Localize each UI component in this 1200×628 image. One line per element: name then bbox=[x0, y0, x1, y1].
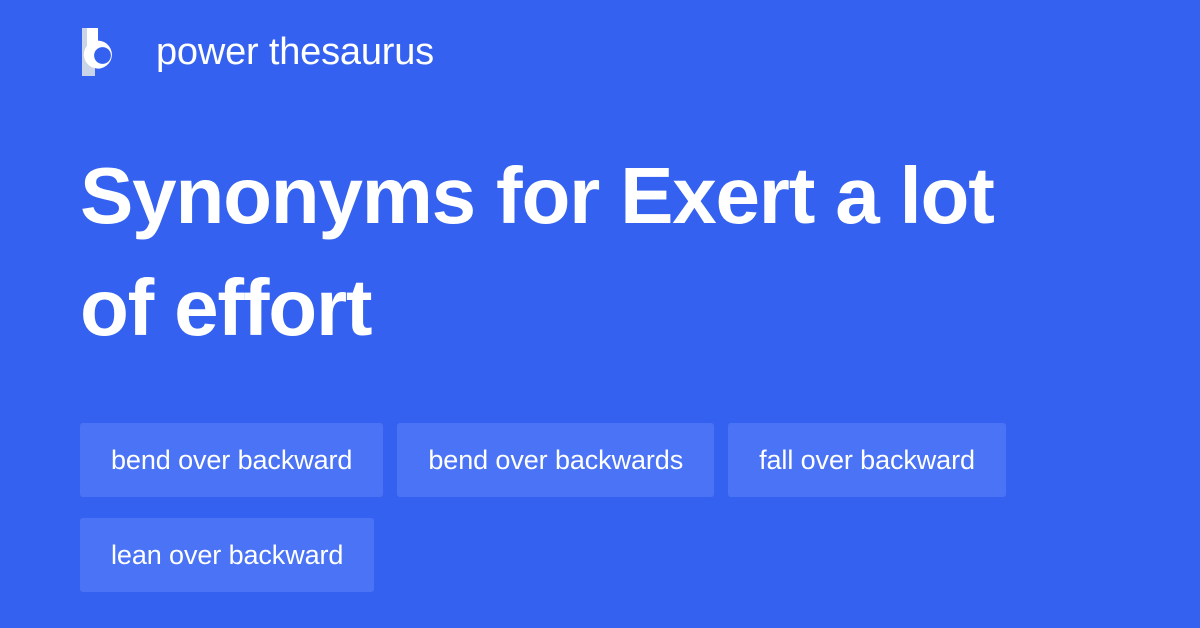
synonym-chip[interactable]: bend over backwards bbox=[397, 423, 714, 497]
synonym-chip[interactable]: lean over backward bbox=[80, 518, 374, 592]
synonym-chip-list: bend over backward bend over backwards f… bbox=[80, 423, 1080, 592]
page-title: Synonyms for Exert a lot of effort bbox=[80, 140, 1080, 364]
brand-header[interactable]: power thesaurus bbox=[82, 28, 434, 76]
brand-name: power thesaurus bbox=[156, 30, 434, 74]
power-thesaurus-logo-icon bbox=[82, 28, 122, 76]
page-root: power thesaurus Synonyms for Exert a lot… bbox=[0, 0, 1200, 628]
synonym-chip[interactable]: bend over backward bbox=[80, 423, 383, 497]
synonym-chip[interactable]: fall over backward bbox=[728, 423, 1006, 497]
